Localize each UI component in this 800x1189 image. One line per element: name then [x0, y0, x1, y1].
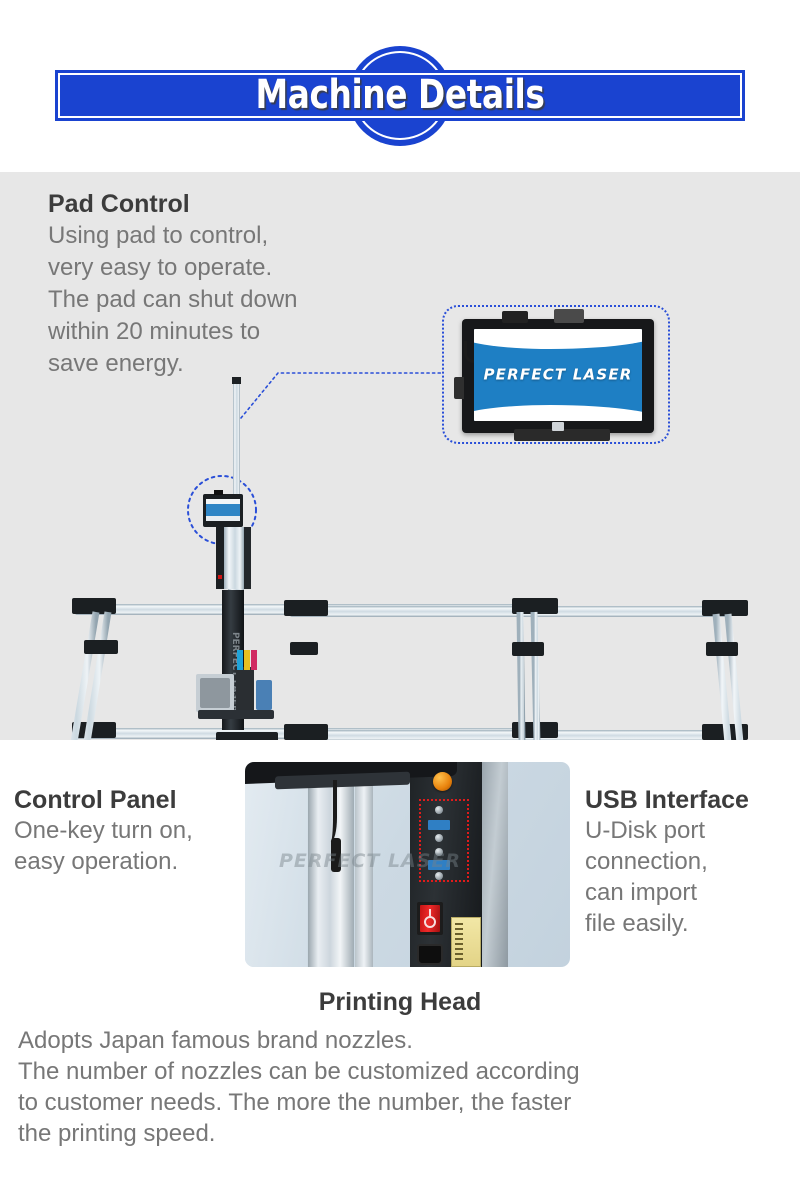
- printing-head-body-line-1: Adopts Japan famous brand nozzles.: [18, 1025, 788, 1056]
- printing-head-body-line-4: the printing speed.: [18, 1118, 788, 1149]
- control-panel-body-line-2: easy operation.: [14, 846, 240, 877]
- power-switch-button[interactable]: [417, 902, 443, 935]
- usb-body-line-2: connection,: [585, 846, 800, 877]
- page-header-banner: Machine Details: [0, 0, 800, 172]
- usb-body-line-4: file easily.: [585, 908, 800, 939]
- control-panel-usb-section: Control Panel One-key turn on, easy oper…: [0, 740, 800, 980]
- control-panel-text-block: Control Panel One-key turn on, easy oper…: [14, 785, 240, 877]
- page-title: Machine Details: [72, 62, 728, 128]
- photo-watermark: PERFECT LASER: [245, 850, 495, 872]
- machine-details-page: Machine Details Pad Control Using pad to…: [0, 0, 800, 1189]
- control-panel-body-line-1: One-key turn on,: [14, 815, 240, 846]
- panel-screw-2: [435, 834, 443, 842]
- printing-head-body-line-3: to customer needs. The more the number, …: [18, 1087, 788, 1118]
- printing-machine-illustration: PERFECT LASER: [0, 172, 800, 740]
- usb-interface-text-block: USB Interface U-Disk port connection, ca…: [585, 785, 800, 939]
- printing-head-text-block: Adopts Japan famous brand nozzles. The n…: [18, 1025, 788, 1149]
- machine-cable-upper: [321, 780, 337, 842]
- panel-screw-1: [435, 806, 443, 814]
- power-socket-icon: [417, 944, 443, 965]
- printing-head-section: Printing Head Adopts Japan famous brand …: [0, 980, 800, 1189]
- power-switch-icon: [420, 905, 440, 932]
- machine-warning-label: [451, 917, 481, 967]
- usb-body-line-1: U-Disk port: [585, 815, 800, 846]
- control-panel-heading: Control Panel: [14, 785, 240, 815]
- control-panel-photo: PERFECT LASER: [245, 762, 570, 967]
- power-knob-icon[interactable]: [433, 772, 452, 791]
- usb-port-1[interactable]: [428, 820, 450, 830]
- printing-head-heading: Printing Head: [0, 988, 800, 1017]
- pad-control-section: Pad Control Using pad to control, very e…: [0, 172, 800, 740]
- usb-body-line-3: can import: [585, 877, 800, 908]
- printing-head-body-line-2: The number of nozzles can be customized …: [18, 1056, 788, 1087]
- usb-interface-heading: USB Interface: [585, 785, 800, 815]
- panel-screw-4: [435, 872, 443, 880]
